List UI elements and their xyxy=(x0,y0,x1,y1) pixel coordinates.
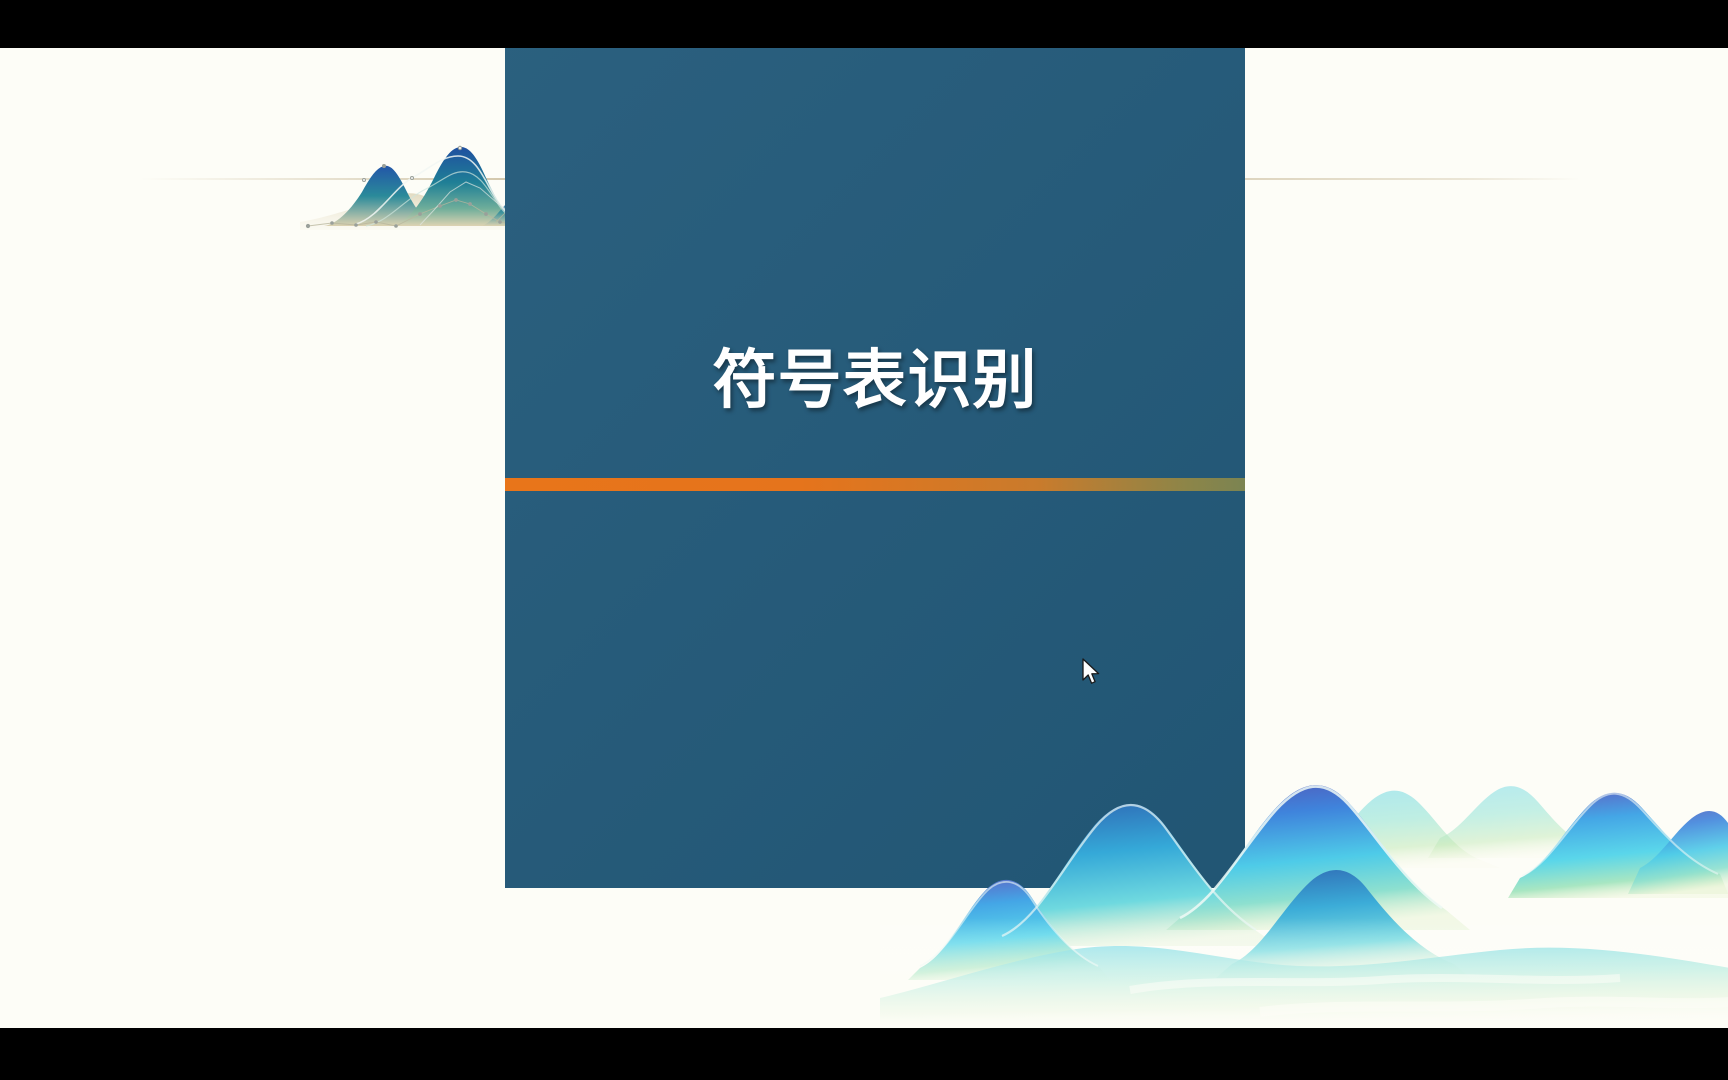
orange-divider-rule xyxy=(505,478,1245,491)
title-panel: 符号表识别 xyxy=(505,48,1245,888)
mouse-cursor xyxy=(1081,658,1103,688)
page-title: 符号表识别 xyxy=(505,348,1245,412)
presentation-viewport: 符号表识别 xyxy=(0,0,1728,1080)
letterbox-top xyxy=(0,0,1728,48)
slide-canvas[interactable]: 符号表识别 xyxy=(0,48,1728,1028)
letterbox-bottom xyxy=(0,1028,1728,1080)
panel-shading xyxy=(505,48,1245,888)
